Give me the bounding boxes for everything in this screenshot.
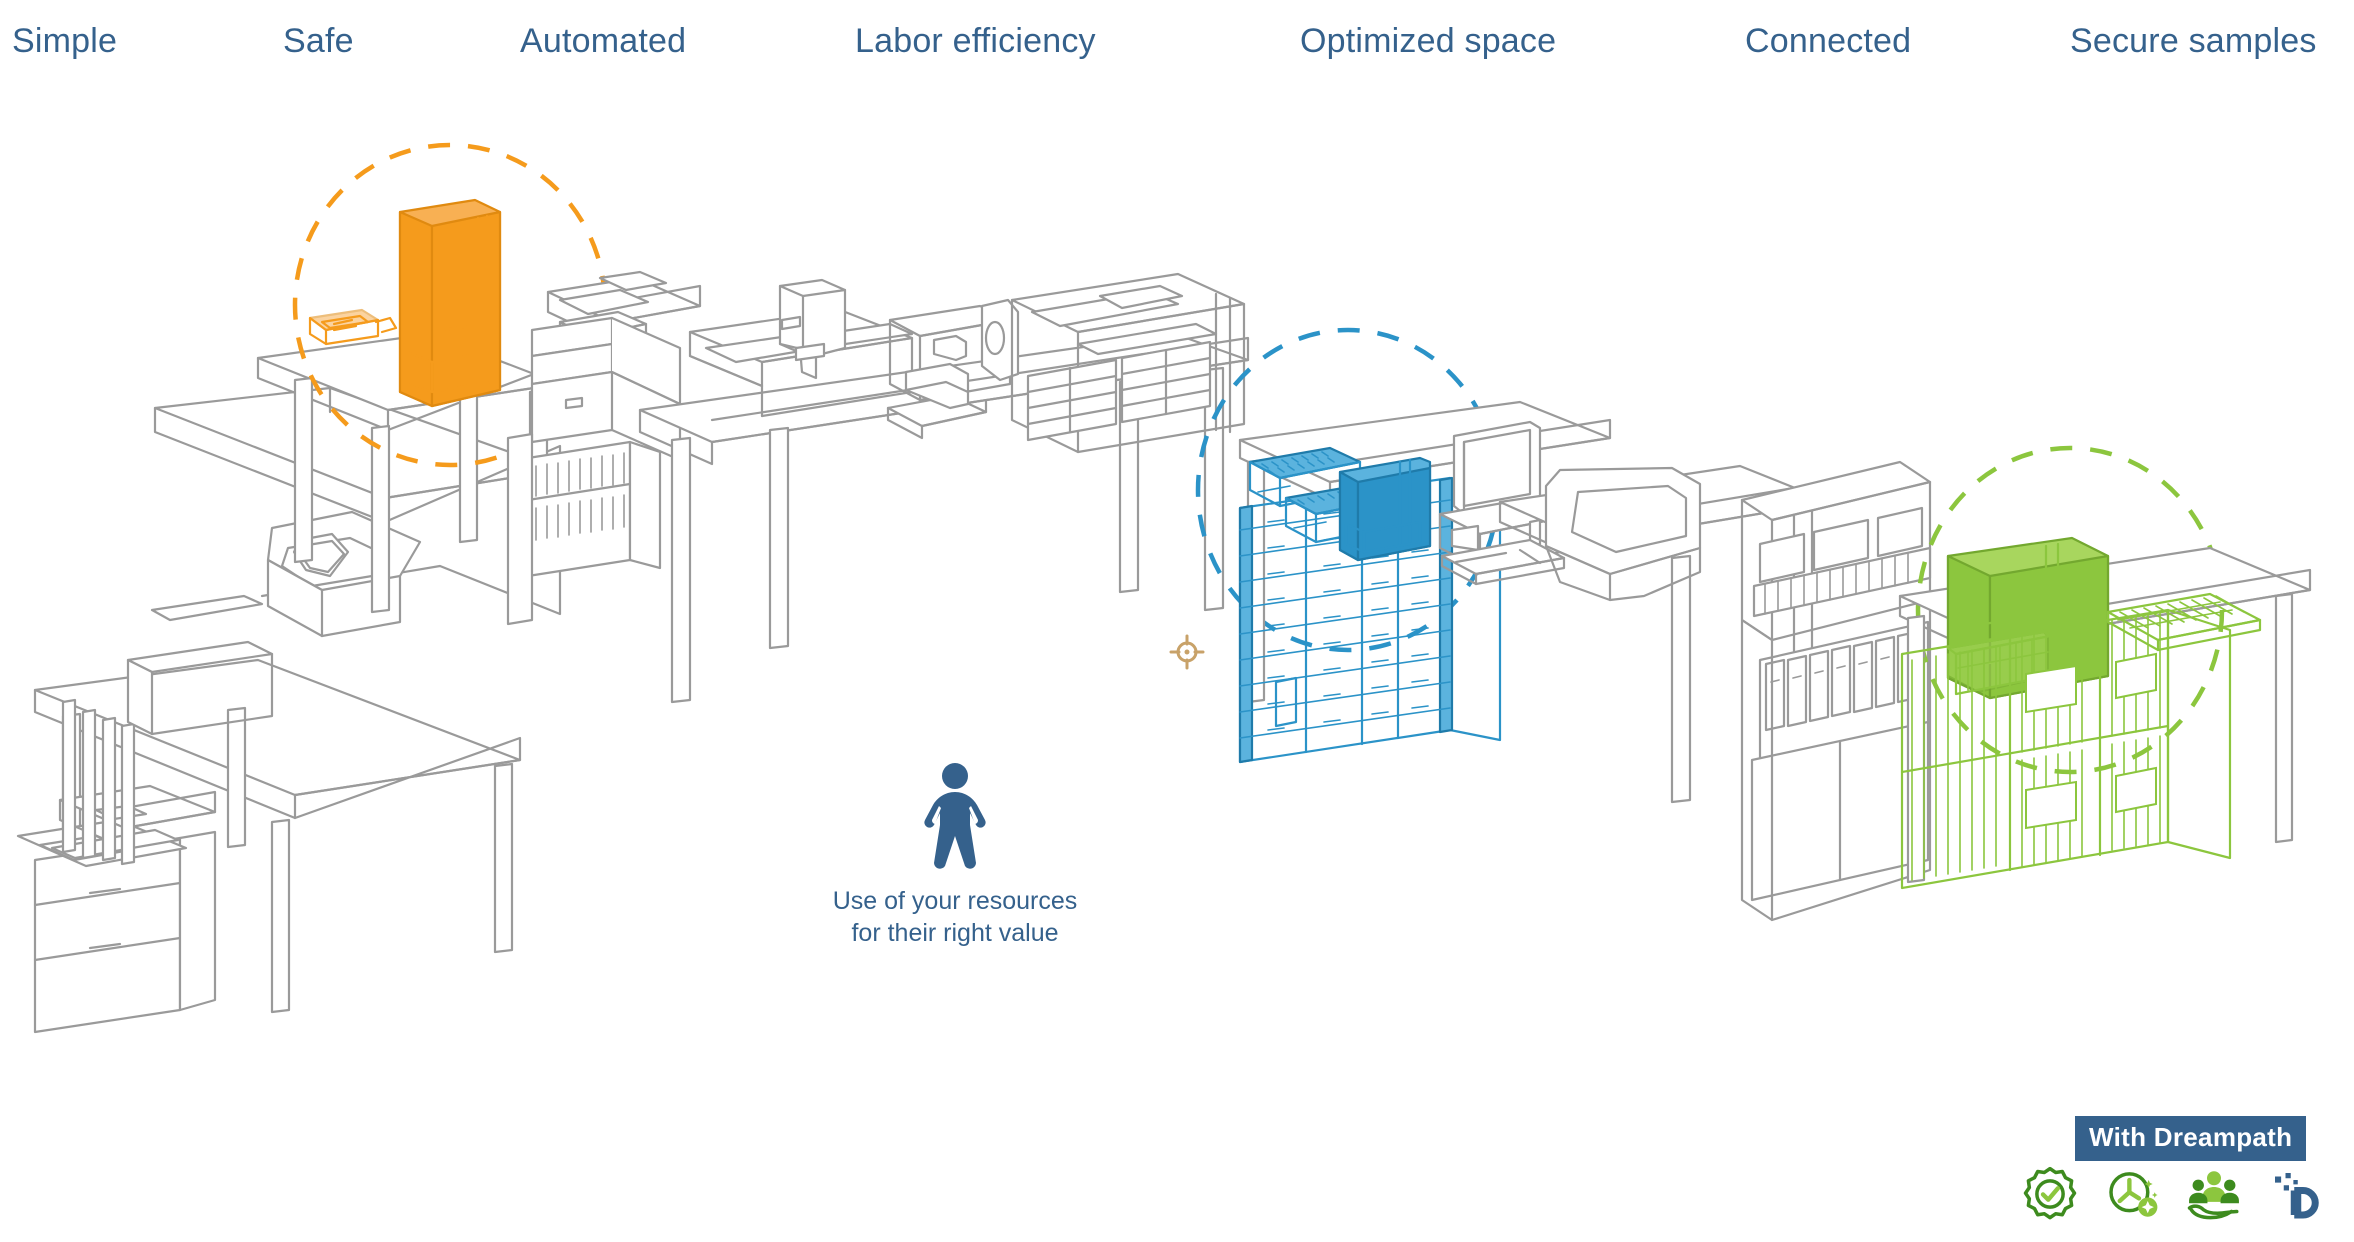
crosshair-marker	[1171, 636, 1203, 668]
quality-seal-check-icon	[2022, 1166, 2078, 1222]
stainer-coverslipper-zone	[1430, 430, 1930, 920]
person-standing-icon	[915, 762, 995, 872]
hands-people-icon	[2186, 1166, 2242, 1222]
microtome-zone	[630, 272, 1250, 702]
resources-caption-line2: for their right value	[790, 917, 1120, 949]
resources-caption: Use of your resources for their right va…	[790, 885, 1120, 949]
archiving-zone	[1900, 448, 2310, 888]
branding-icon-row	[2022, 1166, 2324, 1222]
clock-sparkle-icon	[2104, 1166, 2160, 1222]
branding-block: With Dreampath	[2075, 1116, 2306, 1161]
illustration-canvas: Simple Safe Automated Labor efficiency O…	[0, 0, 2354, 1242]
resources-caption-line1: Use of your resources	[790, 885, 1120, 917]
with-dreampath-badge: With Dreampath	[2075, 1116, 2306, 1161]
dreampath-d-logo-icon	[2268, 1166, 2324, 1222]
resources-callout: Use of your resources for their right va…	[790, 762, 1120, 949]
lab-workflow-illustration: .ln { fill:none; stroke:#9a9a9a; stroke-…	[0, 0, 2354, 1242]
